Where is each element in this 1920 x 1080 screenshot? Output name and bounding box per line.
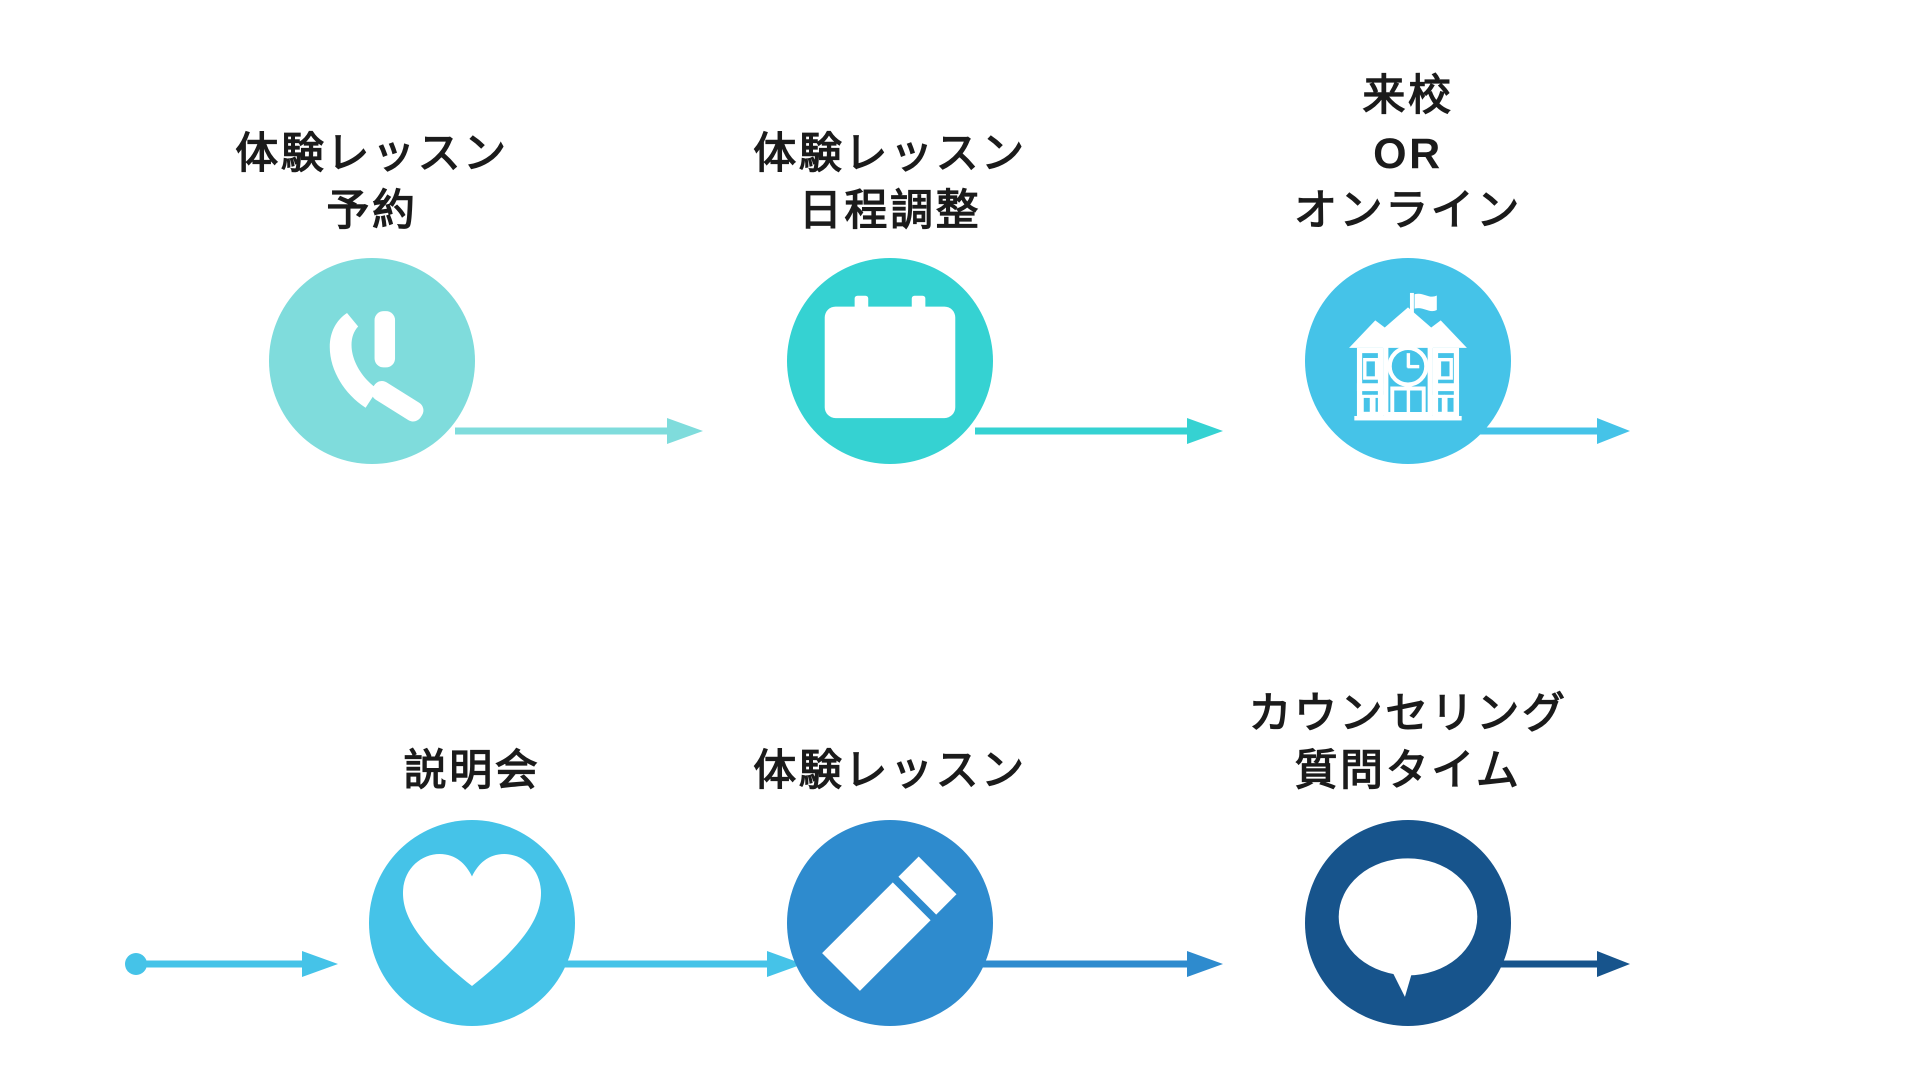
connector-2 xyxy=(975,416,1225,446)
step-label-3-line-3: オンライン xyxy=(1198,183,1618,240)
school-building-icon xyxy=(1336,289,1480,433)
step-node-1: 体験レッスン 予約 xyxy=(222,0,522,540)
flow-row-top: 体験レッスン 予約 xyxy=(0,0,1920,540)
step-label-2: 体験レッスン 日程調整 xyxy=(680,126,1100,240)
step-label-4: 説明会 xyxy=(262,743,682,800)
step-label-6: カウンセリング 質問タイム xyxy=(1198,686,1618,800)
step-label-6-line-2: 質問タイム xyxy=(1198,743,1618,800)
speech-bubble-icon xyxy=(1331,846,1485,1000)
step-node-6: カウンセリング 質問タイム xyxy=(1258,540,1558,1080)
step-label-6-line-1: カウンセリング xyxy=(1198,686,1618,743)
connector-1 xyxy=(455,416,705,446)
step-label-1: 体験レッスン 予約 xyxy=(162,126,582,240)
step-icon-circle-4 xyxy=(369,820,575,1026)
step-icon-circle-6 xyxy=(1305,820,1511,1026)
step-node-3: 来校 OR オンライン xyxy=(1258,0,1558,540)
step-label-3-line-2: OR xyxy=(1198,126,1618,183)
calendar-check-icon xyxy=(822,293,958,429)
step-node-5: 体験レッスン xyxy=(740,540,1040,1080)
pencil-icon xyxy=(820,853,960,993)
step-label-4-line-1: 説明会 xyxy=(262,743,682,800)
flow-row-bottom: 説明会 体験レッスン xyxy=(0,540,1920,1080)
step-label-2-line-2: 日程調整 xyxy=(680,183,1100,240)
step-icon-circle-2 xyxy=(787,258,993,464)
connector-3 xyxy=(1480,416,1630,446)
flow-diagram: 体験レッスン 予約 xyxy=(0,0,1920,1080)
step-label-1-line-1: 体験レッスン xyxy=(162,126,582,183)
step-label-2-line-1: 体験レッスン xyxy=(680,126,1100,183)
heart-icon xyxy=(397,848,547,998)
connector-6 xyxy=(975,949,1225,979)
step-label-1-line-2: 予約 xyxy=(162,183,582,240)
step-icon-circle-5 xyxy=(787,820,993,1026)
phone-handset-icon xyxy=(308,297,436,425)
connector-7 xyxy=(1480,949,1630,979)
step-label-5: 体験レッスン xyxy=(680,743,1100,800)
step-label-5-line-1: 体験レッスン xyxy=(680,743,1100,800)
step-node-2: 体験レッスン 日程調整 xyxy=(740,0,1040,540)
step-node-4: 説明会 xyxy=(322,540,622,1080)
step-label-3-line-1: 来校 xyxy=(1198,68,1618,125)
connector-4 xyxy=(140,949,340,979)
step-label-3: 来校 OR オンライン xyxy=(1198,68,1618,240)
step-icon-circle-1 xyxy=(269,258,475,464)
